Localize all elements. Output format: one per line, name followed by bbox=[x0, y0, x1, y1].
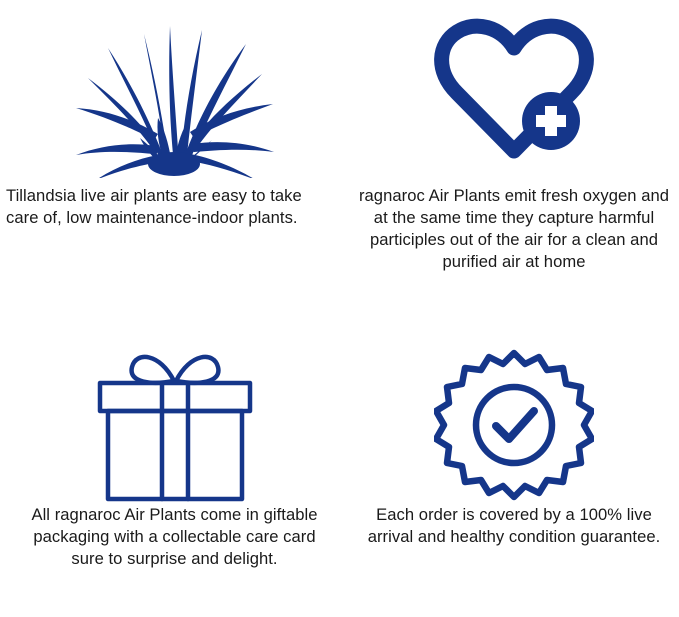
air-plant-icon bbox=[70, 8, 280, 178]
heart-plus-icon-wrapper bbox=[349, 0, 679, 185]
gift-box-icon bbox=[80, 345, 270, 505]
feature-card-giftable-packaging: All ragnaroc Air Plants come in giftable… bbox=[0, 309, 349, 617]
feature-caption-fresh-oxygen: ragnaroc Air Plants emit fresh oxygen an… bbox=[353, 185, 675, 273]
feature-card-easy-care: Tillandsia live air plants are easy to t… bbox=[0, 0, 349, 309]
feature-caption-giftable-packaging: All ragnaroc Air Plants come in giftable… bbox=[20, 504, 330, 570]
guarantee-badge-icon-wrapper bbox=[349, 309, 679, 504]
feature-caption-live-arrival-guarantee: Each order is covered by a 100% live arr… bbox=[355, 504, 673, 548]
feature-caption-easy-care: Tillandsia live air plants are easy to t… bbox=[0, 185, 334, 229]
feature-grid: Tillandsia live air plants are easy to t… bbox=[0, 0, 679, 617]
guarantee-badge-icon bbox=[434, 345, 594, 505]
feature-card-fresh-oxygen: ragnaroc Air Plants emit fresh oxygen an… bbox=[349, 0, 679, 309]
gift-box-icon-wrapper bbox=[0, 309, 349, 504]
air-plant-icon-wrapper bbox=[0, 0, 349, 185]
heart-plus-icon bbox=[429, 18, 599, 168]
feature-card-live-arrival-guarantee: Each order is covered by a 100% live arr… bbox=[349, 309, 679, 617]
